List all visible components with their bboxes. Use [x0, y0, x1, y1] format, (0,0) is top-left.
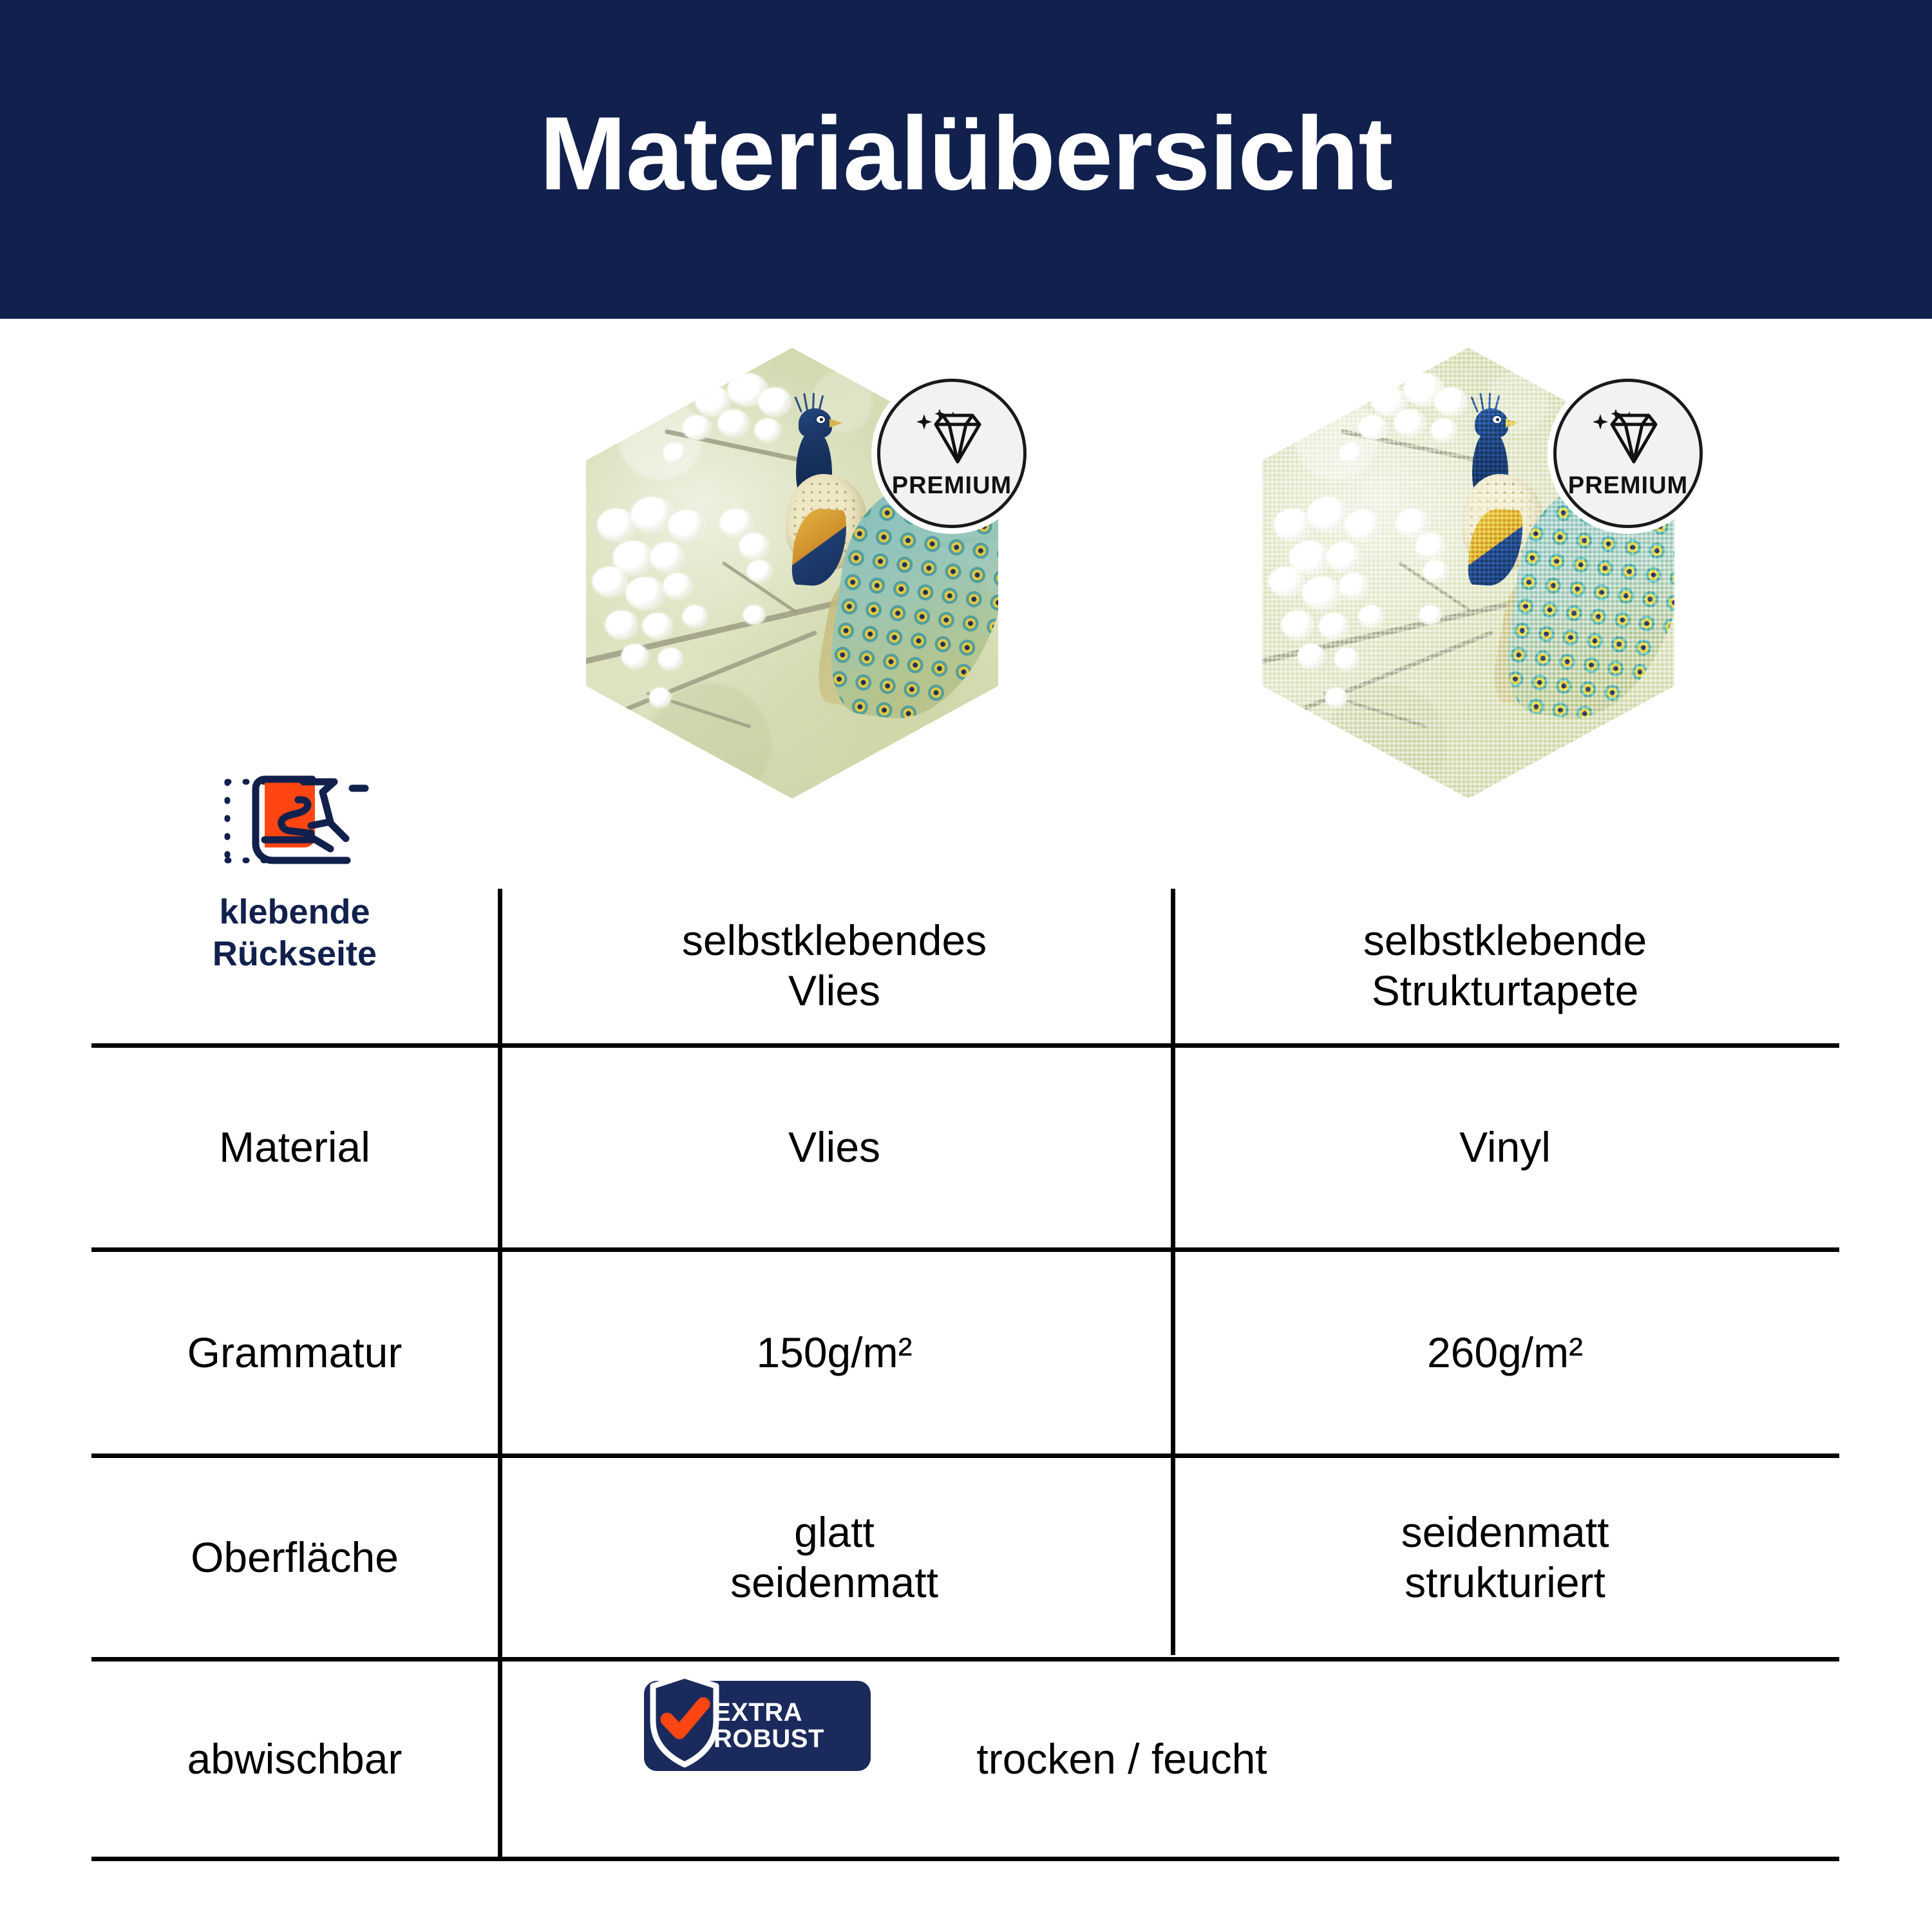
table-row-label-oberflaeche: Oberfläche	[91, 1458, 498, 1657]
row-divider-3	[91, 1657, 1839, 1662]
diamond-icon	[914, 408, 990, 466]
table-row-label-grammatur: Grammatur	[91, 1252, 498, 1454]
extra-robust-line2: ROBUST	[714, 1726, 824, 1752]
sticky-backing-label-line1: klebende	[219, 893, 370, 931]
blossom	[683, 605, 707, 627]
table-header-col2: selbstklebende Strukturtapete	[1171, 889, 1839, 1043]
table-cell-oberflaeche-col2: seidenmatt strukturiert	[1171, 1458, 1839, 1657]
table-row-label-material: Material	[91, 1048, 498, 1247]
row-divider-1	[91, 1247, 1839, 1252]
row-divider-header	[91, 1043, 1839, 1048]
table-cell-grammatur-col1: 150g/m²	[498, 1252, 1171, 1454]
blossom	[643, 613, 672, 639]
table-header-col1-line2: Vlies	[788, 966, 880, 1016]
table-cell-material-col2: Vinyl	[1171, 1048, 1839, 1247]
blossom	[592, 567, 627, 596]
premium-badge-label: PREMIUM	[1568, 472, 1688, 500]
preview-hexagon-strukturtapete[interactable]: PREMIUM	[1262, 348, 1674, 799]
blossom	[718, 410, 749, 437]
diamond-icon	[1590, 408, 1666, 466]
peel-adhesive-backing-icon	[214, 760, 375, 882]
table-header-col2-line1: selbstklebende	[1363, 916, 1647, 966]
table-row-label-abwischbar: abwischbar	[91, 1662, 498, 1857]
sticky-backing-feature: klebende Rückseite	[91, 760, 498, 975]
table-cell-material-col1: Vlies	[498, 1048, 1171, 1247]
page-header: Materialübersicht	[0, 0, 1932, 319]
peacock-eye	[815, 415, 826, 424]
blossom	[663, 443, 687, 464]
material-overview-page: Materialübersicht	[0, 0, 1932, 1932]
blossom	[720, 509, 752, 537]
premium-badge: PREMIUM	[877, 379, 1027, 528]
table-cell-oberflaeche-col1: glatt seidenmatt	[498, 1458, 1171, 1657]
blossom	[658, 648, 683, 670]
row-divider-bottom	[91, 1857, 1839, 1861]
table-cell-oberflaeche-col1-line1: glatt	[794, 1508, 875, 1558]
table-cell-oberflaeche-col2-line2: strukturiert	[1405, 1558, 1605, 1608]
blossom	[626, 577, 665, 609]
table-cell-oberflaeche-col1-line2: seidenmatt	[730, 1558, 938, 1608]
premium-badge: PREMIUM	[1553, 379, 1703, 528]
blossom	[650, 542, 684, 572]
table-header-col1: selbstklebendes Vlies	[498, 889, 1171, 1043]
table-cell-grammatur-col2: 260g/m²	[1171, 1252, 1839, 1454]
blossom	[755, 419, 781, 442]
peacock-beak	[829, 419, 842, 428]
blossom	[668, 510, 705, 541]
blossom	[605, 611, 638, 639]
table-cell-abwischbar-value: trocken / feucht	[896, 1662, 1347, 1857]
blossom	[739, 533, 769, 559]
material-comparison-table: klebende Rückseite selbstklebendes Vlies…	[91, 889, 1839, 1861]
preview-hexagon-vlies[interactable]: PREMIUM	[586, 348, 998, 799]
blossom	[663, 573, 692, 599]
blossom	[631, 497, 672, 532]
page-title: Materialübersicht	[540, 102, 1392, 218]
blossom	[598, 509, 635, 541]
extra-robust-line1: EXTRA	[714, 1700, 824, 1726]
blossom	[747, 560, 772, 582]
extra-robust-text: EXTRA ROBUST	[714, 1700, 824, 1752]
blossom	[759, 388, 791, 416]
blossom	[743, 605, 765, 625]
table-header-col2-line2: Strukturtapete	[1372, 966, 1639, 1016]
shield-check-icon	[649, 1672, 720, 1768]
blossom	[621, 644, 649, 668]
table-cell-oberflaeche-col2-line1: seidenmatt	[1401, 1508, 1609, 1558]
extra-robust-badge: EXTRA ROBUST	[644, 1681, 871, 1771]
sticky-backing-label-line2: Rückseite	[213, 934, 377, 973]
row-divider-2	[91, 1454, 1839, 1458]
blossom	[683, 415, 711, 440]
table-header-col1-line1: selbstklebendes	[682, 916, 987, 966]
premium-badge-label: PREMIUM	[892, 472, 1012, 500]
sticky-backing-label: klebende Rückseite	[213, 891, 377, 975]
blossom	[649, 688, 671, 707]
